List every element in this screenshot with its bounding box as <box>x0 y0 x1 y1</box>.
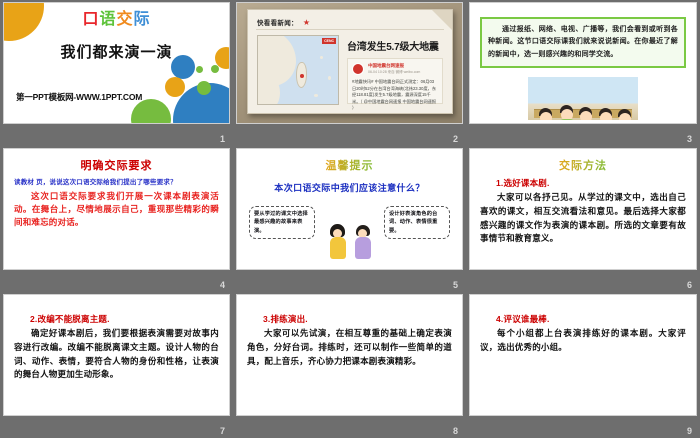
slide-cell-4[interactable]: 明确交际要求 读教材 页，说说这次口语交际给我们提出了哪些要求？ 这次口语交际要… <box>0 146 233 292</box>
page-curl-icon <box>432 10 452 30</box>
slide-number-7: 7 <box>220 426 225 436</box>
weibo-avatar <box>352 63 364 75</box>
weibo-post-card: 中国地震台网速报 06-04 10:28 来自 微博 weibo.com #地震… <box>347 58 443 104</box>
article-title: 台湾发生5.7级大地震 <box>347 38 444 53</box>
slide-number-1: 1 <box>220 134 225 144</box>
decor-circle-green-mid-icon <box>197 81 211 95</box>
header-divider <box>256 29 444 30</box>
speech-bubble-right: 设计好表演角色的台词、动作、表情很重要。 <box>384 206 450 239</box>
boy-body <box>355 237 371 259</box>
slide-6[interactable]: 交际方法 1.选好课本剧. 大家可以各抒己见。从学过的课文中，选出自己喜欢的课文… <box>469 148 697 270</box>
decor-circle-green-tiny-a-icon <box>211 65 219 73</box>
slide-cell-8[interactable]: 3.排练演出. 大家可以先试演，在相互尊重的基础上确定表演角色，分好台词。排练时… <box>233 292 466 438</box>
slide-cell-3[interactable]: 通过报纸、网络、电视、广播等，我们会看到或听到各种新闻。这节口语交际课我们就来说… <box>466 0 700 146</box>
slide-9-body: 每个小组都上台表演排练好的课本剧。大家评议，选出优秀的小组。 <box>480 327 686 355</box>
slide-7-step: 2.改编不能脱离主题. <box>30 313 219 325</box>
intro-text-box: 通过报纸、网络、电视、广播等，我们会看到或听到各种新闻。这节口语交际课我们就来说… <box>480 17 686 68</box>
two-kids-illustration <box>322 216 378 264</box>
slide-cell-5[interactable]: 温馨提示 本次口语交际中我们应该注意什么？ 要从学过的课文中选择最感兴趣的故事来… <box>233 146 466 292</box>
slide-4-title: 明确交际要求 <box>14 157 219 173</box>
title-char-4: 际 <box>134 12 151 28</box>
slide-number-8: 8 <box>453 426 458 436</box>
epicenter-marker-icon <box>300 74 304 78</box>
slide-5-illustration-area: 要从学过的课文中选择最感兴趣的故事来表演。 设计好表演角色的台词、动作、表情很重… <box>247 200 452 270</box>
slide-4-body: 这次口语交际要求我们开展一次课本剧表演活动。在舞台上，尽情地展示自己，重现那些精… <box>14 190 219 230</box>
student-3-head <box>580 111 592 120</box>
decor-circle-orange-small-icon <box>165 77 185 97</box>
slide-number-9: 9 <box>687 426 692 436</box>
news-header-label: 快看看新闻：★ <box>257 17 310 27</box>
girl-body <box>330 237 346 259</box>
map-logo: CENC <box>322 38 336 44</box>
slide-cell-9[interactable]: 4.评议谁最棒. 每个小组都上台表演排练好的课本剧。大家评议，选出优秀的小组。 … <box>466 292 700 438</box>
earthquake-map: CENC <box>257 35 339 105</box>
map-islet-b <box>328 76 331 80</box>
student-2-body <box>559 119 575 120</box>
slide-7-body: 确定好课本剧后，我们要根据表演需要对故事内容进行改编。改编不能脱离课文主题。设计… <box>14 327 219 382</box>
student-1-head <box>540 112 552 120</box>
slide-8-body: 大家可以先试演，在相互尊重的基础上确定表演角色，分好台词。排练时，还可以制作一些… <box>247 327 452 368</box>
weibo-post-body: #地震快讯# 中国地震台网正式测定：06月03日20时52分在台湾台湾海峡(北纬… <box>352 79 438 112</box>
slide-1[interactable]: 口语交际 我们都来演一演 第一PPT模板网-WWW.1PPT.COM <box>3 2 230 124</box>
student-4-head <box>600 112 612 120</box>
slide-5-question: 本次口语交际中我们应该注意什么？ <box>247 181 452 194</box>
weibo-timestamp: 06-04 10:28 来自 微博 weibo.com <box>368 70 420 75</box>
slide-8[interactable]: 3.排练演出. 大家可以先试演，在相互尊重的基础上确定表演角色，分好台词。排练时… <box>236 294 463 416</box>
students-illustration <box>528 77 638 120</box>
slide-number-5: 5 <box>453 280 458 290</box>
speech-bubble-left: 要从学过的课文中选择最感兴趣的故事来表演。 <box>249 206 315 239</box>
title-char-3: 交 <box>117 12 134 28</box>
slide-9[interactable]: 4.评议谁最棒. 每个小组都上台表演排练好的课本剧。大家评议，选出优秀的小组。 <box>469 294 697 416</box>
slide-6-body: 大家可以各抒己见。从学过的课文中，选出自己喜欢的课文，相互交流看法和意见。最后选… <box>480 191 686 246</box>
slide-1-title: 口语交际 <box>4 12 229 28</box>
slide-number-3: 3 <box>687 134 692 144</box>
decor-circle-blue-small-icon <box>171 55 195 79</box>
slide-6-title: 交际方法 <box>480 157 686 173</box>
slide-cell-6[interactable]: 交际方法 1.选好课本剧. 大家可以各抒己见。从学过的课文中，选出自己喜欢的课文… <box>466 146 700 292</box>
slide-thumbnail-grid: 口语交际 我们都来演一演 第一PPT模板网-WWW.1PPT.COM 1 快看看… <box>0 0 700 438</box>
slide-7[interactable]: 2.改编不能脱离主题. 确定好课本剧后，我们要根据表演需要对故事内容进行改编。改… <box>3 294 230 416</box>
watermark-text: 第一PPT模板网-WWW.1PPT.COM <box>16 91 142 103</box>
slide-2[interactable]: 快看看新闻：★ CENC 台湾发生5.7级大地震 中国地震台网速报 <box>236 2 463 124</box>
map-islet-a <box>320 56 323 59</box>
slide-4-subtitle: 读教材 页，说说这次口语交际给我们提出了哪些要求？ <box>14 176 219 186</box>
title-char-2: 语 <box>99 12 116 28</box>
slide-1-subtitle: 我们都来演一演 <box>4 41 229 62</box>
slide-8-step: 3.排练演出. <box>263 313 452 325</box>
weibo-account-name: 中国地震台网速报 <box>368 63 404 69</box>
news-header-text: 快看看新闻： <box>257 20 298 27</box>
slide-4[interactable]: 明确交际要求 读教材 页，说说这次口语交际给我们提出了哪些要求？ 这次口语交际要… <box>3 148 230 270</box>
slide-number-2: 2 <box>453 134 458 144</box>
map-islet-c <box>314 94 318 97</box>
slide-5-title: 温馨提示 <box>247 157 452 173</box>
slide-cell-7[interactable]: 2.改编不能脱离主题. 确定好课本剧后，我们要根据表演需要对故事内容进行改编。改… <box>0 292 233 438</box>
slide-9-step: 4.评议谁最棒. <box>496 313 686 325</box>
title-char-1: 口 <box>82 12 99 28</box>
news-paper-card: 快看看新闻：★ CENC 台湾发生5.7级大地震 中国地震台网速报 <box>247 9 453 114</box>
slide-cell-1[interactable]: 口语交际 我们都来演一演 第一PPT模板网-WWW.1PPT.COM 1 <box>0 0 233 146</box>
slide-3[interactable]: 通过报纸、网络、电视、广播等，我们会看到或听到各种新闻。这节口语交际课我们就来说… <box>469 2 697 124</box>
slide-6-step: 1.选好课本剧. <box>496 177 686 189</box>
slide-number-4: 4 <box>220 280 225 290</box>
decor-circle-green-tiny-b-icon <box>196 66 203 73</box>
student-5-head <box>619 113 631 120</box>
slide-number-6: 6 <box>687 280 692 290</box>
slide-5[interactable]: 温馨提示 本次口语交际中我们应该注意什么？ 要从学过的课文中选择最感兴趣的故事来… <box>236 148 463 270</box>
slide-cell-2[interactable]: 快看看新闻：★ CENC 台湾发生5.7级大地震 中国地震台网速报 <box>233 0 466 146</box>
star-icon: ★ <box>303 18 310 27</box>
